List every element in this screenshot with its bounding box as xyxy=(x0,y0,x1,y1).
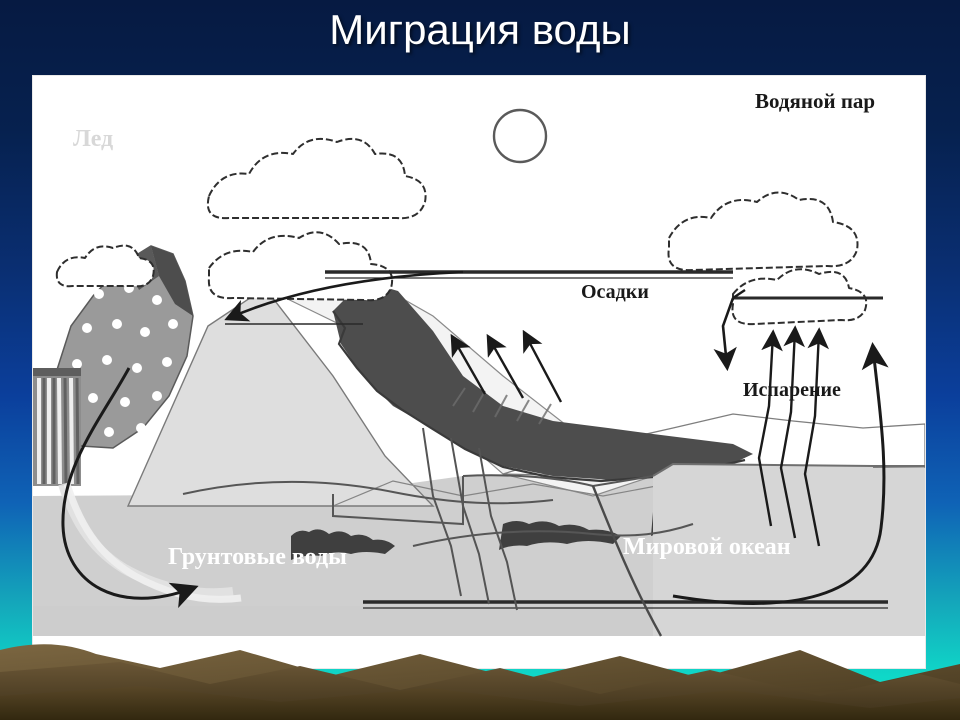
label-precipitation: Осадки xyxy=(581,281,649,303)
sun-icon xyxy=(494,110,546,162)
label-groundwater: Грунтовые воды xyxy=(168,544,347,570)
diagram-panel: Лед Водяной пар Осадки Испарение Грунтов… xyxy=(33,76,925,668)
label-evaporation: Испарение xyxy=(743,379,841,401)
label-ice: Лед xyxy=(73,126,113,152)
label-water-vapor: Водяной пар xyxy=(755,89,875,113)
presentation-slide: Миграция воды xyxy=(0,0,960,720)
label-world-ocean: Мировой океан xyxy=(623,534,791,560)
water-cycle-svg: Лед Водяной пар Осадки Испарение Грунтов… xyxy=(33,76,925,668)
slide-title: Миграция воды xyxy=(0,6,960,54)
